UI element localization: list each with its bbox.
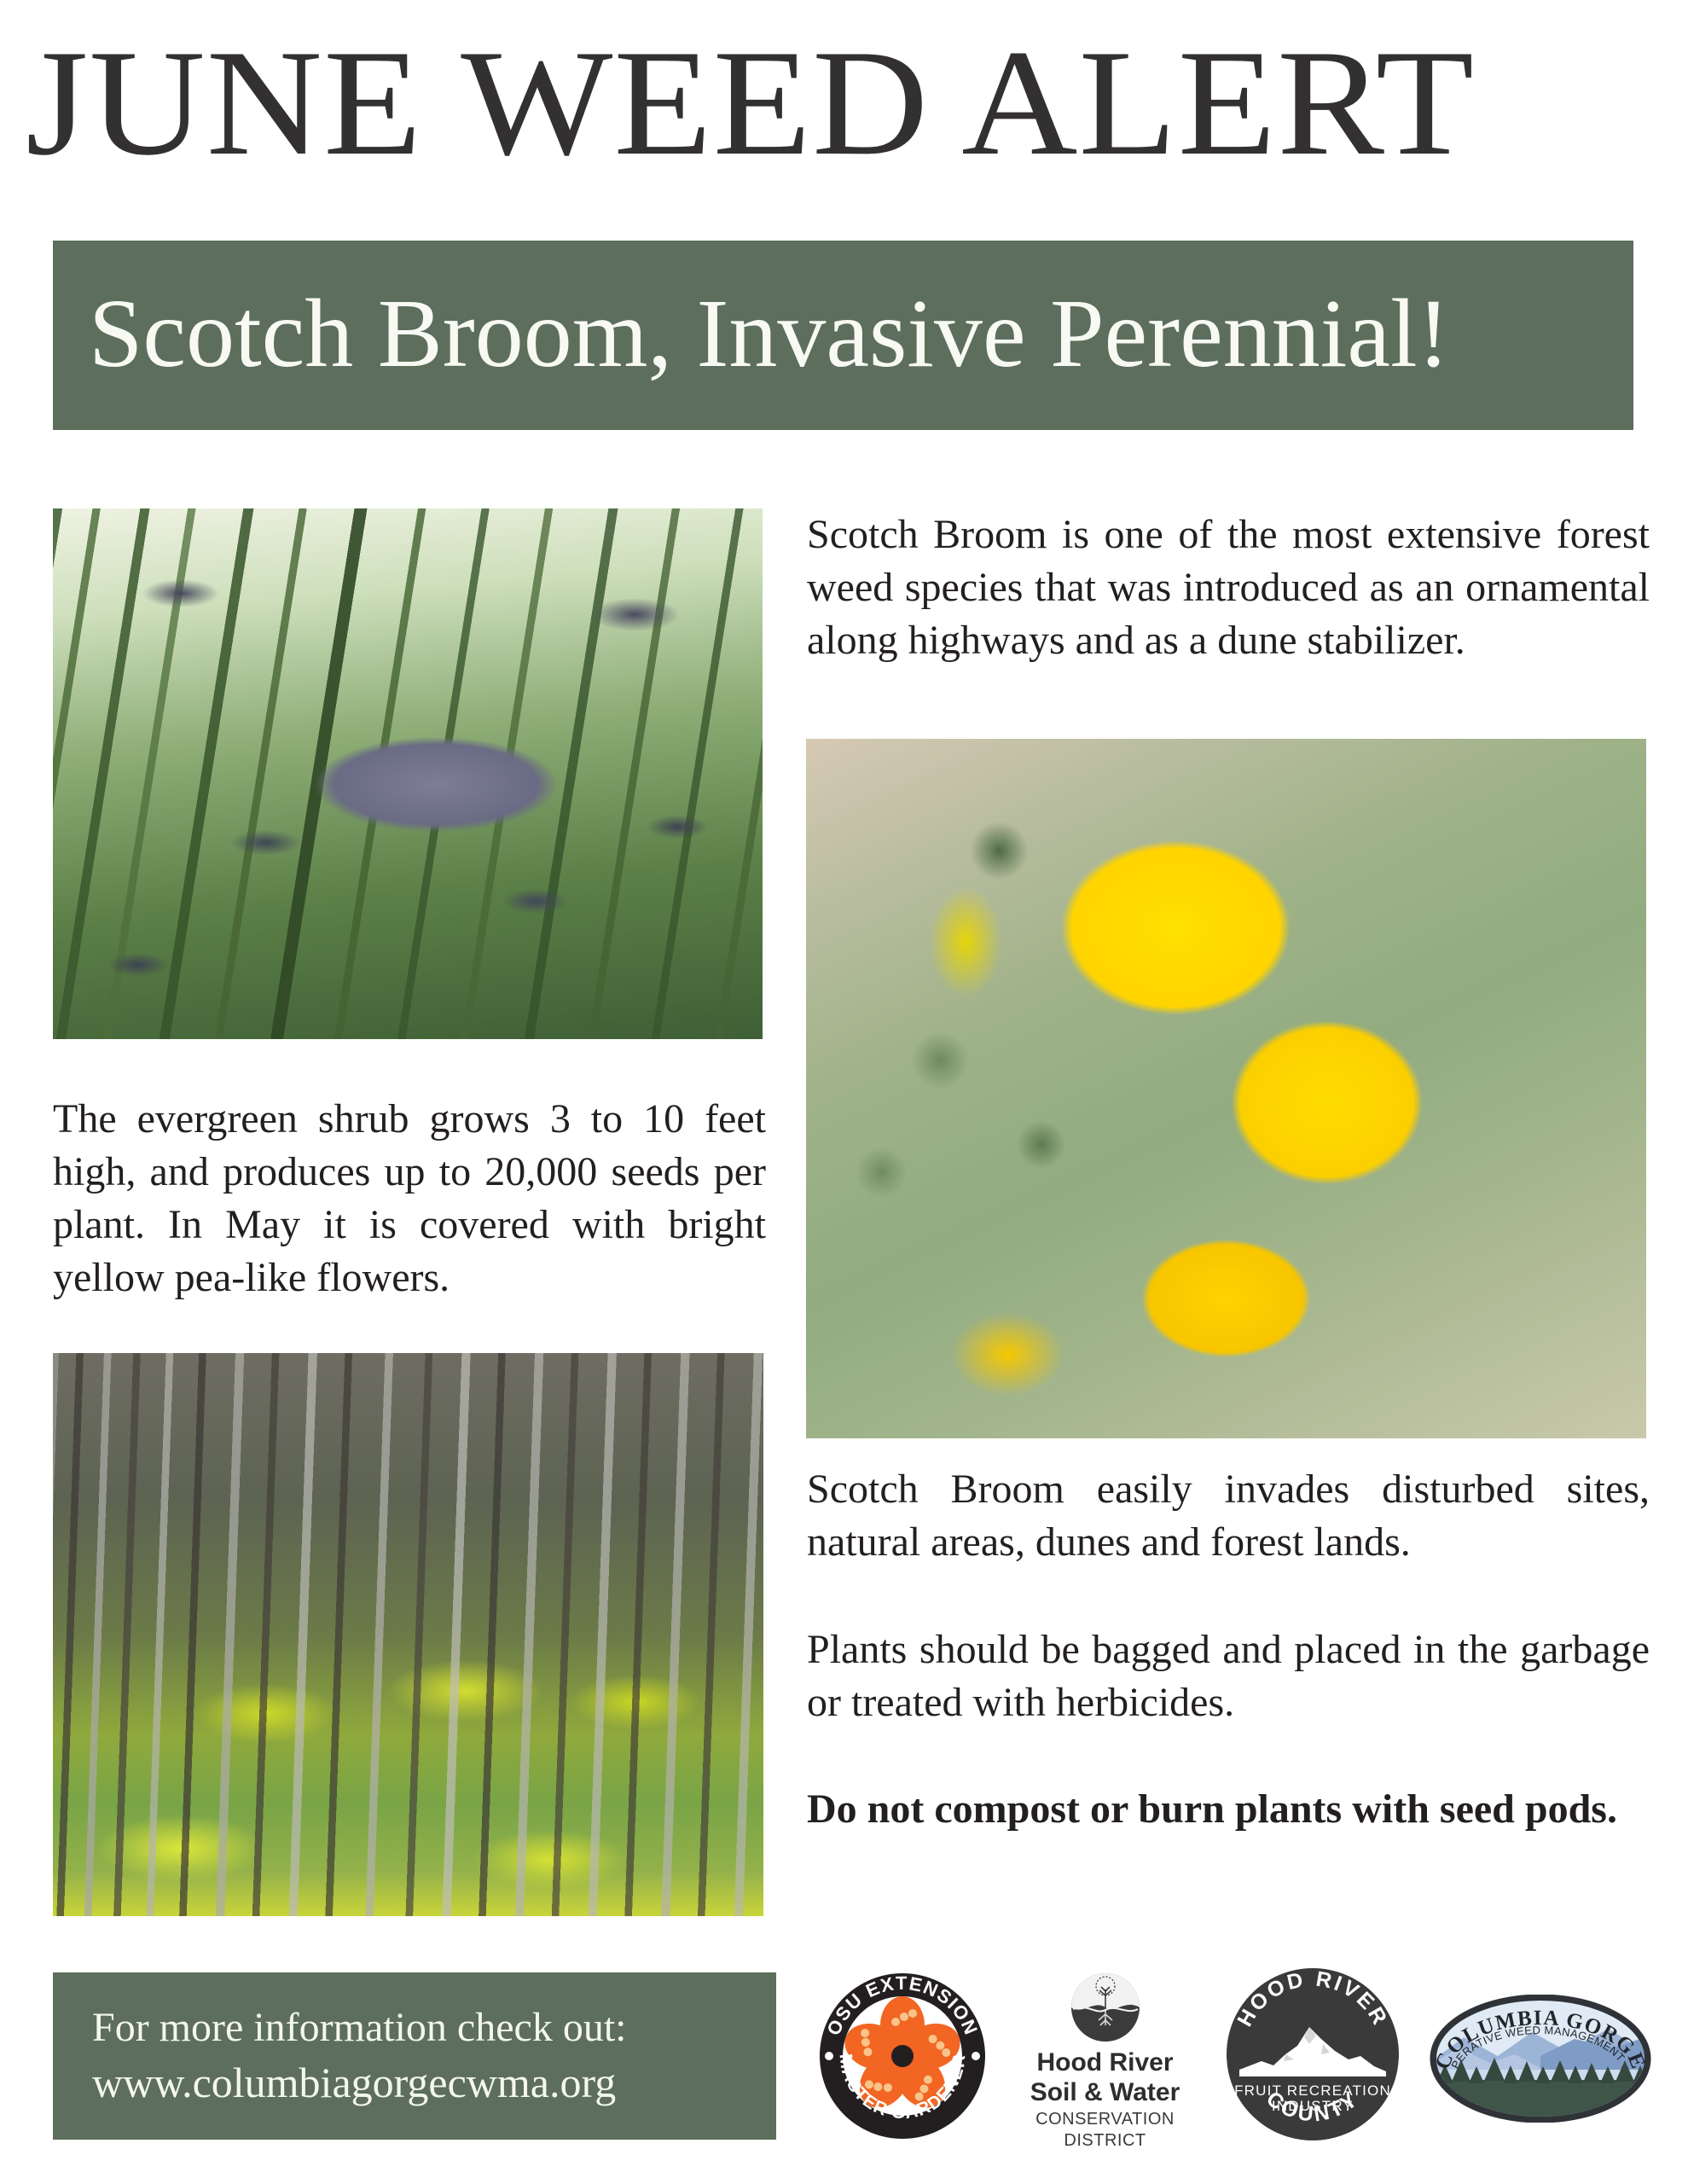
hrswcd-name: Hood River Soil & Water: [1018, 2047, 1192, 2107]
website-url[interactable]: www.columbiagorgecwma.org: [92, 2058, 616, 2107]
more-information-box: For more information check out: www.colu…: [53, 1972, 776, 2140]
warning-paragraph: Do not compost or burn plants with seed …: [807, 1783, 1650, 1836]
disposal-paragraph: Plants should be bagged and placed in th…: [807, 1623, 1650, 1729]
columbia-gorge-cwma-logo: COLUMBIA GORGE COOPERATIVE WEED MANAGEME…: [1430, 1995, 1651, 2123]
shrub-description-paragraph: The evergreen shrub grows 3 to 10 feet h…: [53, 1093, 766, 1304]
scotch-broom-infested-forest-photo: [53, 1353, 763, 1916]
hrswcd-line1: Hood River: [1036, 2048, 1173, 2077]
invades-paragraph: Scotch Broom easily invades disturbed si…: [807, 1463, 1650, 1569]
more-info-label: For more information check out:: [92, 2003, 627, 2053]
osu-extension-master-gardener-logo: OSU EXTENSION MASTER GARDENER: [817, 1971, 988, 2141]
subtitle-text: Scotch Broom, Invasive Perennial!: [89, 278, 1450, 389]
hood-river-county-logo: HOOD RIVER FRUIT RECREATION INDUSTRY COU…: [1224, 1966, 1401, 2143]
hrswcd-line4: DISTRICT: [1064, 2131, 1146, 2150]
hood-river-soil-and-water-logo: Hood River Soil & Water CONSERVATION DIS…: [1018, 1972, 1192, 2153]
page-title: JUNE WEED ALERT: [26, 19, 1688, 189]
hrswcd-subtitle: CONSERVATION DISTRICT: [1018, 2109, 1192, 2152]
hrc-center-line1: FRUIT RECREATION: [1234, 2082, 1391, 2099]
hrswcd-line3: CONSERVATION: [1035, 2110, 1175, 2129]
tree-roots-circle-icon: [1070, 1972, 1140, 2042]
subtitle-banner: Scotch Broom, Invasive Perennial!: [53, 241, 1633, 430]
partner-logos: OSU EXTENSION MASTER GARDENER: [810, 1962, 1650, 2177]
hrswcd-line2: Soil & Water: [1030, 2078, 1180, 2106]
intro-paragraph: Scotch Broom is one of the most extensiv…: [807, 508, 1650, 667]
scotch-broom-yellow-flower-photo: [806, 739, 1646, 1438]
scotch-broom-seed-pod-photo: [53, 508, 763, 1039]
